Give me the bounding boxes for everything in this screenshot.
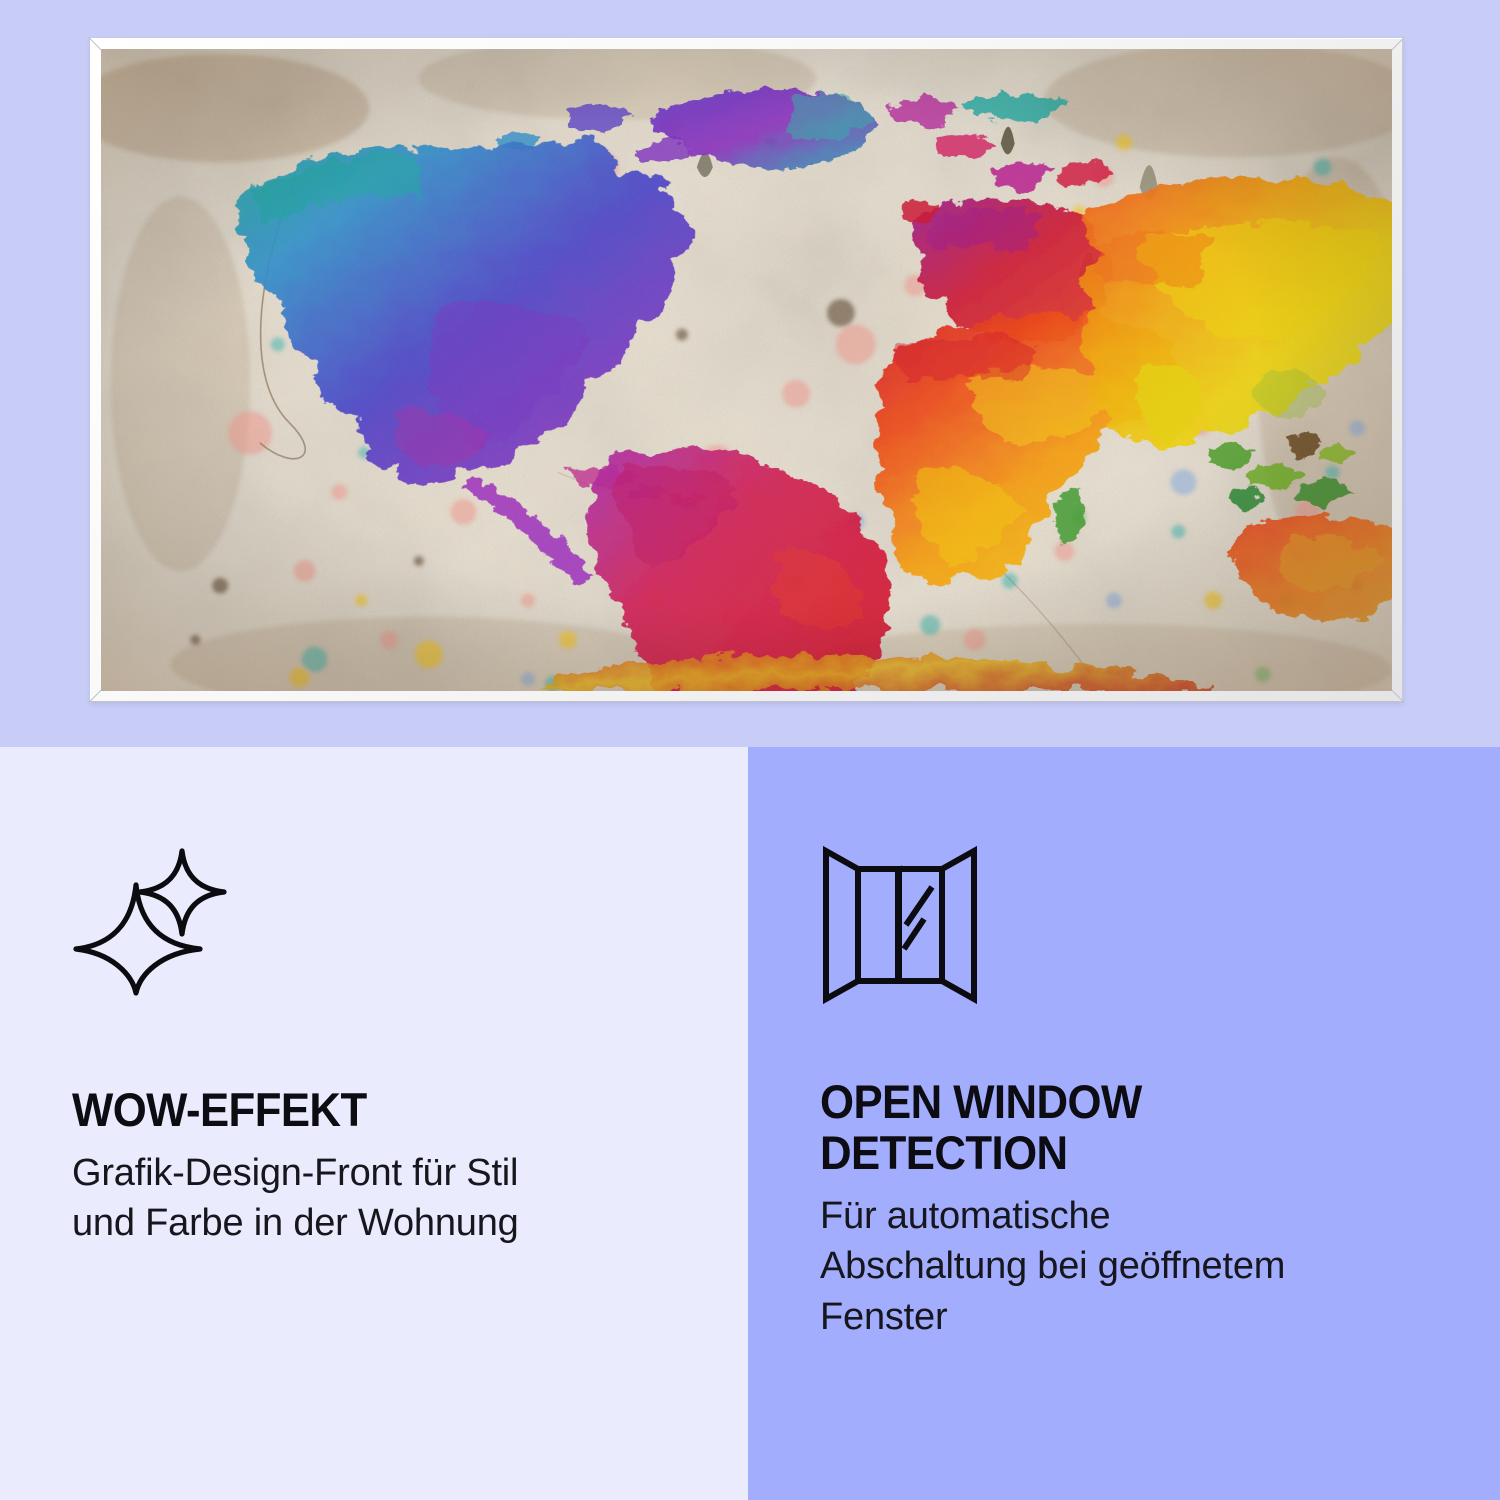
product-feature-banner: WOW-EFFEKT Grafik-Design-Front für Stil … bbox=[0, 0, 1500, 1500]
feature-title-wow-effekt: WOW-EFFEKT bbox=[72, 1085, 634, 1136]
paper-vignette bbox=[101, 49, 1392, 691]
feature-panel-open-window-detection: OPEN WINDOW DETECTION Für automatische A… bbox=[748, 747, 1500, 1500]
feature-body-wow-effekt: Grafik-Design-Front für Stil und Farbe i… bbox=[72, 1148, 542, 1249]
artwork-canvas bbox=[101, 49, 1392, 691]
picture-frame bbox=[90, 38, 1403, 702]
feature-panels: WOW-EFFEKT Grafik-Design-Front für Stil … bbox=[0, 747, 1500, 1500]
open-window-icon bbox=[820, 845, 1428, 1015]
hero-section bbox=[0, 0, 1500, 747]
feature-title-open-window-detection: OPEN WINDOW DETECTION bbox=[820, 1077, 1385, 1179]
sparkle-icon bbox=[72, 845, 676, 1015]
feature-panel-wow-effekt: WOW-EFFEKT Grafik-Design-Front für Stil … bbox=[0, 747, 748, 1500]
feature-body-open-window-detection: Für automatische Abschaltung bei geöffne… bbox=[820, 1191, 1320, 1343]
